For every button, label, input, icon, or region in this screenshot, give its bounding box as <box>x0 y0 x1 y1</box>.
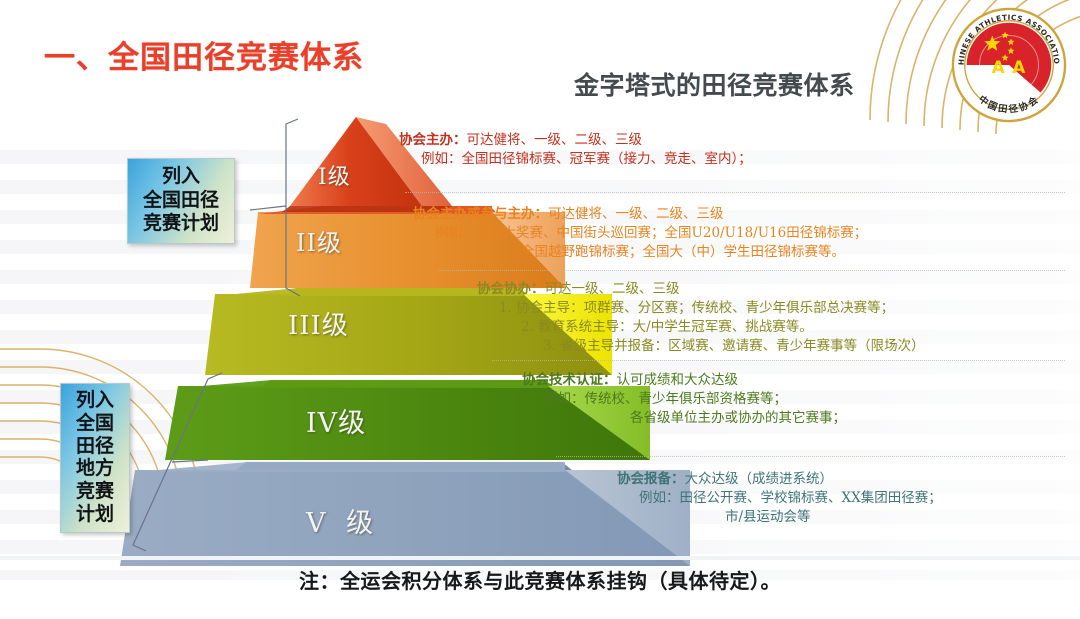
separator-3 <box>492 360 1065 361</box>
tier-4-label: IV级 <box>306 401 366 440</box>
separator-2 <box>438 270 1065 271</box>
badge-1-line-2: 全国田径 <box>132 189 230 213</box>
desc-level-5: 协会报备：大众达级（成绩进系统） 例如：田径公开赛、学校锦标赛、XX集团田径赛；… <box>617 470 942 527</box>
desc-4-strong: 协会技术认证： <box>522 372 617 388</box>
page-subtitle: 金字塔式的田径竞赛体系 <box>574 66 855 102</box>
desc-1-text: 可达健将、一级、二级、三级 <box>467 132 643 148</box>
badge-2-line-1: 列入 <box>64 389 126 412</box>
desc-1-line-2: 例如：全国田径锦标赛、冠军赛（接力、竞走、室内）； <box>421 151 752 167</box>
badge-2-line-3: 田径 <box>64 435 126 458</box>
badge-1-line-1: 列入 <box>132 165 230 189</box>
desc-5-text: 大众达级（成绩进系统） <box>685 471 834 487</box>
desc-2-line-2: 例如：全国大奖赛、中国街头巡回赛；全国U20/U18/U16田径锦标赛； <box>435 225 867 241</box>
separator-4 <box>556 456 1065 457</box>
slide-canvas: 一、全国田径竞赛体系 金字塔式的田径竞赛体系 A A CHINESE ATHLE… <box>0 0 1080 619</box>
desc-4-text: 认可成绩和大众达级 <box>617 372 739 388</box>
footer-note: 注：全运会积分体系与此竞赛体系挂钩（具体待定）。 <box>0 565 1080 594</box>
desc-level-1: 协会主办：可达健将、一级、二级、三级 例如：全国田径锦标赛、冠军赛（接力、竞走、… <box>399 131 752 169</box>
badge-national-plan: 列入 全国田径 竞赛计划 <box>127 158 235 244</box>
desc-5-line-3: 市/县运动会等 <box>725 509 811 525</box>
badge-2-line-4: 地方 <box>64 457 126 480</box>
desc-3-line-4: 3. 省级主导并报备：区域赛、邀请赛、青少年赛事等（限场次） <box>543 338 925 354</box>
desc-3-strong: 协会协办： <box>477 281 545 297</box>
desc-2-text: 可达健将、一级、二级、三级 <box>548 206 724 222</box>
svg-text:A A: A A <box>992 57 1027 77</box>
badge-1-line-3: 竞赛计划 <box>132 212 230 236</box>
badge-local-plan: 列入 全国 田径 地方 竞赛 计划 <box>60 383 130 533</box>
desc-3-line-2: 1. 协会主导：项群赛、分区赛；传统校、青少年俱乐部总决赛等； <box>499 300 894 316</box>
tier-1-label: I级 <box>318 159 351 191</box>
desc-4-line-2: 例如：传统校、青少年俱乐部资格赛等； <box>544 391 787 407</box>
desc-5-line-2: 例如：田径公开赛、学校锦标赛、XX集团田径赛； <box>639 490 942 506</box>
badge-2-line-5: 竞赛 <box>64 480 126 503</box>
page-title: 一、全国田径竞赛体系 <box>44 32 364 77</box>
desc-5-strong: 协会报备： <box>617 471 685 487</box>
chinese-athletics-association-logo: A A CHINESE ATHLETICS ASSOCIATION 中国田径协会 <box>950 6 1068 124</box>
desc-2-line-3: 全国越野跑锦标赛；全国大（中）学生田径锦标赛等。 <box>521 244 845 260</box>
tier-2-label: II级 <box>296 223 342 258</box>
tier-5-label: V 级 <box>306 501 379 540</box>
desc-1-strong: 协会主办： <box>399 132 467 148</box>
separator-1 <box>405 192 1065 193</box>
desc-3-text: 可达一级、二级、三级 <box>545 281 680 297</box>
badge-2-line-6: 计划 <box>64 503 126 526</box>
desc-level-4: 协会技术认证：认可成绩和大众达级 例如：传统校、青少年俱乐部资格赛等； 各省级单… <box>522 371 846 428</box>
desc-level-3: 协会协办：可达一级、二级、三级 1. 协会主导：项群赛、分区赛；传统校、青少年俱… <box>477 280 925 357</box>
bottom-strip <box>0 556 1080 560</box>
badge-2-line-2: 全国 <box>64 412 126 435</box>
tier-3-label: III级 <box>288 305 349 342</box>
desc-3-line-3: 2. 教育系统主导：大/中学生冠军赛、挑战赛等。 <box>521 319 813 335</box>
desc-2-strong: 协会主办或参与主办： <box>413 206 548 222</box>
desc-4-line-3: 各省级单位主办或协办的其它赛事； <box>630 410 846 426</box>
desc-level-2: 协会主办或参与主办：可达健将、一级、二级、三级 例如：全国大奖赛、中国街头巡回赛… <box>413 205 867 262</box>
